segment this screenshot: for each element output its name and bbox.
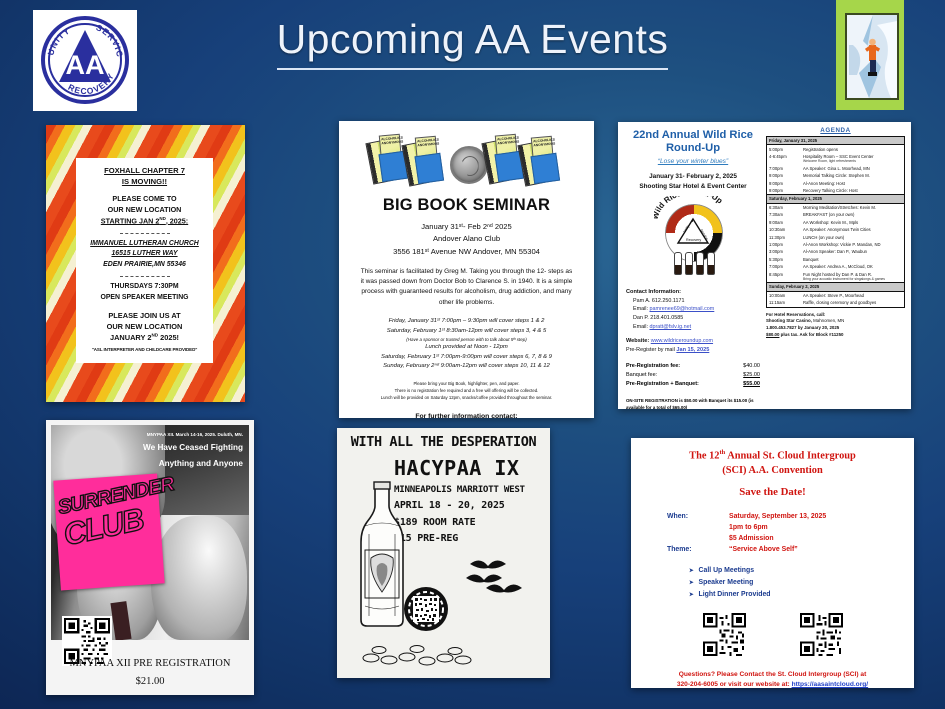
mnypaa-kicker: MNYPAA XII. March 14-16, 2025. Duluth, M… — [118, 432, 243, 438]
wildrice-hotel-phone: 1.800.453.7827 by January 20, 2025 — [766, 325, 905, 332]
foxhall-footnote: "ASL INTERPRETER AND CHILDCARE PROVIDED" — [82, 347, 207, 352]
agenda-subtext: Bring your acoustic instrument for singa… — [803, 277, 902, 281]
foxhall-body-line1: PLEASE COME TO — [82, 194, 207, 205]
agenda-time: 10:30am — [767, 226, 802, 233]
stcloud-title-line2: (SCI) A.A. Convention — [722, 465, 822, 476]
page-title: Upcoming AA Events — [0, 16, 945, 63]
agenda-text: Hospitality Room – SSC Event CenterWelco… — [801, 153, 905, 165]
agenda-row: 7:00pmAA Speaker: Andrea A., McCloud, OK — [767, 263, 905, 270]
agenda-row: 10:30amAA Speaker: Anonymous Twin Cities — [767, 226, 905, 233]
stcloud-save-the-date: Save the Date! — [645, 486, 900, 498]
foxhall-close-line3: JANUARY 2ND 2025! — [82, 332, 207, 343]
page-title-text: Upcoming AA Events — [277, 16, 669, 70]
wildrice-dates: January 31- February 2, 2025 — [626, 172, 760, 182]
agenda-text: Banquet — [801, 256, 905, 263]
big-book-illustration: ALCOHOLICS ANONYMOUS ALCOHOLICS ANONYMOU… — [353, 132, 580, 194]
wildrice-hotel-rate: $80.00 — [766, 332, 779, 337]
bullet-item: Light Dinner Provided — [689, 589, 900, 601]
agenda-text: BREAKFAST (on your own) — [801, 211, 905, 218]
bigbook-venue: Andover Alano Club — [353, 233, 580, 245]
wildrice-hotel-casino: Shooting Star Casino, — [766, 318, 812, 323]
agenda-day-header: Friday, January 31, 2025 — [767, 137, 905, 145]
fee-amount: $55.00 — [743, 380, 760, 389]
agenda-row: 11:30pmLUNCH (on your own) — [767, 234, 905, 241]
bigbook-schedule: Friday, January 31ˢᵗ 7:00pm – 9:30pm wil… — [353, 317, 580, 372]
agenda-time: 1:00pm — [767, 241, 802, 248]
agenda-time: 9:00pm — [767, 172, 802, 179]
detail-label — [667, 524, 729, 531]
wildrice-contact-block: Contact Information: Pam A. 612.250.1171… — [626, 288, 760, 355]
wildrice-hotel-block: plus tax. Ask for Block #11250 — [779, 332, 843, 337]
agenda-day-label: Saturday, February 1, 2025 — [767, 195, 905, 203]
schedule-line: Lunch provided at Noon - 12pm — [353, 343, 580, 353]
wildrice-onsite-note-1: ON-SITE REGISTRATION is $50.00 with Banq… — [626, 398, 760, 409]
agenda-text: Al-Anon Speaker: Dan P., Waubun — [801, 248, 905, 255]
agenda-time: 7:30am — [767, 211, 802, 218]
agenda-text: LUNCH (on your own) — [801, 234, 905, 241]
wildrice-agenda-heading: AGENDA — [766, 127, 905, 134]
agenda-time: 10:00am — [767, 291, 802, 299]
presentation-slide: AA UNITY SERVICE RECOVERY Upcoming AA Ev… — [0, 0, 945, 709]
agenda-time: 5:30pm — [767, 256, 802, 263]
wildrice-website-link[interactable]: www.wildriceroundup.com — [651, 338, 713, 344]
foxhall-close-line1: PLEASE JOIN US AT — [82, 310, 207, 321]
agenda-row: 9:00pmMemorial Talking Circle: Stephen M… — [767, 172, 905, 179]
wildrice-contact-name: Pam A. 612.250.1171 — [633, 297, 760, 306]
agenda-text: AA Speaker: Anonymous Twin Cities — [801, 226, 905, 233]
wildrice-contact-name: Dan P. 218.401.0585 — [633, 314, 760, 323]
wildrice-title-line2: Round-Up — [626, 142, 760, 155]
agenda-text: AA Speaker: Steve P., Moorhead — [801, 291, 905, 299]
schedule-line: Saturday, February 1ˢᵗ 7:00pm-9:00pm wil… — [353, 353, 580, 363]
fee-amount: $40.00 — [743, 362, 760, 371]
agenda-row: 9:00pmAl-Anon Meeting: Host — [767, 179, 905, 186]
foxhall-close-line2: OUR NEW LOCATION — [82, 321, 207, 332]
ice-climber-photo — [845, 13, 899, 100]
hacypaa-title: HACYPAA IX — [394, 458, 544, 478]
agenda-day-label: Sunday, February 2, 2025 — [767, 283, 905, 291]
agenda-row: 4-6:45pmHospitality Room – SSC Event Cen… — [767, 153, 905, 165]
agenda-text: Recovery Talking Circle: Host — [801, 187, 905, 195]
flyer-foxhall-chapter-7[interactable]: FOXHALL CHAPTER 7 IS MOVING!! PLEASE COM… — [46, 125, 245, 402]
flyer-hacypaa-ix[interactable]: WITH ALL THE DESPERATION HACYPAA IX MINN… — [337, 428, 550, 678]
foxhall-body-line2: OUR NEW LOCATION — [82, 205, 207, 216]
aa-medallion-icon — [450, 146, 488, 184]
agenda-text: Fun Night hosted by Dan P. & Dan R.Bring… — [801, 271, 905, 283]
hacypaa-qr-code[interactable] — [403, 586, 449, 632]
wildrice-contact-email[interactable]: pamrenee69@hotmail.com — [649, 306, 714, 312]
agenda-time: 4-6:45pm — [767, 153, 802, 165]
fee-label: Pre-Registration + Banquet: — [626, 380, 699, 389]
agenda-row: 7:30amBREAKFAST (on your own) — [767, 211, 905, 218]
foxhall-addr-line3: EDEN PRAIRIE,MN 55346 — [82, 260, 207, 270]
agenda-text: Registration opens — [801, 145, 905, 153]
wildrice-hotel-city: Mahnomen, MN — [812, 318, 844, 323]
stcloud-title: The 12th Annual St. Cloud Intergroup (SC… — [645, 448, 900, 479]
mnypaa-caption: MNYPAA XII PRE REGISTRATION — [46, 658, 254, 669]
foxhall-addr-line2: 16515 LUTHER WAY — [82, 249, 207, 259]
agenda-day-header: Sunday, February 2, 2025 — [767, 283, 905, 291]
note-line: Please bring your Big Book, highlighter,… — [361, 380, 572, 387]
agenda-day-label: Friday, January 31, 2025 — [767, 137, 905, 145]
flyer-mnypaa-xii[interactable]: SURRENDER CLUB MNYPAA XII. March 14-16, … — [46, 420, 254, 695]
fee-label: Banquet fee: — [626, 371, 657, 380]
wildrice-prereg-date: Jan 15, 2025 — [676, 347, 709, 353]
agenda-time: 6:30am — [767, 203, 802, 211]
flyer-st-cloud-intergroup[interactable]: The 12th Annual St. Cloud Intergroup (SC… — [631, 438, 914, 688]
detail-label: When: — [667, 513, 729, 520]
agenda-text: Memorial Talking Circle: Stephen M. — [801, 172, 905, 179]
mnypaa-headline-line1: We Have Ceased Fighting — [118, 443, 243, 454]
detail-label — [667, 535, 729, 542]
bullet-item: Speaker Meeting — [689, 577, 900, 589]
stcloud-footer-line2: 320-204-6005 or visit our website at: — [677, 681, 792, 688]
agenda-time: 5:00pm — [767, 145, 802, 153]
divider — [120, 233, 170, 234]
wildrice-hotel-heading: For Hotel Reservations, call: — [766, 312, 905, 319]
foxhall-body-line3: STARTING JAN 2ND, 2025: — [82, 216, 207, 227]
surrender-club-sticker: SURRENDER CLUB — [53, 474, 164, 591]
bigbook-description: This seminar is facilitated by Greg M. T… — [353, 267, 580, 308]
agenda-day-header: Saturday, February 1, 2025 — [767, 195, 905, 203]
agenda-row: 8:45pmFun Night hosted by Dan P. & Dan R… — [767, 271, 905, 283]
wildrice-agenda-table: Friday, January 31, 20255:00pmRegistrati… — [766, 136, 905, 308]
mnypaa-photo: SURRENDER CLUB MNYPAA XII. March 14-16, … — [51, 425, 249, 640]
agenda-text: AA Speaker: Gina L. Moorhead, MN — [801, 165, 905, 172]
agenda-time: 9:00pm — [767, 179, 802, 186]
flyer-wild-rice-round-up[interactable]: 22nd Annual Wild Rice Round-Up “Lose you… — [618, 122, 911, 409]
agenda-text: AA Workshop: Kevin M., Mpls — [801, 219, 905, 226]
wildrice-tagline: “Lose your winter blues” — [626, 158, 760, 165]
foxhall-meeting-line2: OPEN SPEAKER MEETING — [82, 293, 207, 304]
agenda-text: Raffle, closing ceremony and goodbyes — [801, 299, 905, 307]
wildrice-contact-email[interactable]: dpratt@fslv.ig.net — [649, 324, 691, 330]
stcloud-qr-code-2[interactable] — [800, 613, 843, 656]
agenda-text: AA Speaker: Andrea A., McCloud, OK — [801, 263, 905, 270]
stcloud-footer-line1: Questions? Please Contact the St. Cloud … — [645, 670, 900, 680]
fee-amount: $25.00 — [743, 371, 760, 380]
wildrice-medallion-icon: Wild Rice Round-Up Unity Service Recover… — [651, 196, 735, 274]
flyer-big-book-seminar[interactable]: ALCOHOLICS ANONYMOUS ALCOHOLICS ANONYMOU… — [339, 121, 594, 418]
wildrice-venue: Shooting Star Hotel & Event Center — [626, 182, 760, 192]
divider — [120, 276, 170, 277]
stcloud-details: When:Saturday, September 13, 2025 1pm to… — [667, 513, 900, 553]
wildrice-title-line1: 22nd Annual Wild Rice — [626, 129, 760, 142]
bigbook-date: January 31ˢᵗ- Feb 2ⁿᵈ 2025 — [353, 221, 580, 233]
mnypaa-headline-line2: Anything and Anyone — [118, 459, 243, 470]
schedule-line: Saturday, February 1ˢᵗ 8:30am-12pm will … — [353, 327, 580, 337]
foxhall-title-line2: IS MOVING!! — [82, 176, 207, 187]
agenda-row: 9:00amAA Workshop: Kevin M., Mpls — [767, 219, 905, 226]
agenda-row: 5:00pmRegistration opens — [767, 145, 905, 153]
stcloud-qr-code-1[interactable] — [703, 613, 746, 656]
hacypaa-room-rate: $189 ROOM RATE — [394, 516, 544, 530]
agenda-subtext: Welcome Room, light refreshments — [803, 159, 902, 163]
agenda-time: 9:00am — [767, 219, 802, 226]
svg-text:Recovery: Recovery — [686, 238, 701, 242]
hacypaa-prereg: $15 PRE-REG — [394, 532, 544, 546]
agenda-time: 8:45pm — [767, 271, 802, 283]
agenda-time: 11:15am — [767, 299, 802, 307]
detail-label: Theme: — [667, 546, 729, 553]
wildrice-contact-heading: Contact Information: — [626, 289, 681, 295]
bullet-item: Call Up Meetings — [689, 565, 900, 577]
detail-value: $5 Admission — [729, 535, 774, 542]
hacypaa-line1: WITH ALL THE DESPERATION — [343, 436, 544, 450]
bigbook-contact-heading: For further information contact: — [353, 412, 580, 418]
agenda-row: 7:00pmAA Speaker: Gina L. Moorhead, MN — [767, 165, 905, 172]
agenda-time: 7:00pm — [767, 165, 802, 172]
detail-value: Saturday, September 13, 2025 — [729, 513, 826, 520]
detail-value: 1pm to 6pm — [729, 524, 768, 531]
schedule-line: Friday, January 31ˢᵗ 7:00pm – 9:30pm wil… — [353, 317, 580, 327]
agenda-row: 9:00pmRecovery Talking Circle: Host — [767, 187, 905, 195]
agenda-text: Morning Meditation/Stretches: Kevin M. — [801, 203, 905, 211]
stcloud-website-link[interactable]: https://aasaintcloud.org/ — [792, 681, 869, 688]
agenda-row: 1:00pmAl-Anon Workshop: Vickie P. Mandan… — [767, 241, 905, 248]
agenda-text: Al-Anon Workshop: Vickie P. Mandan, ND — [801, 241, 905, 248]
agenda-row: 10:00amAA Speaker: Steve P., Moorhead — [767, 291, 905, 299]
agenda-row: 6:30amMorning Meditation/Stretches: Kevi… — [767, 203, 905, 211]
foxhall-paper: FOXHALL CHAPTER 7 IS MOVING!! PLEASE COM… — [76, 158, 213, 363]
agenda-time: 3:00pm — [767, 248, 802, 255]
schedule-line: (Have a sponsor or trusted person with t… — [353, 336, 580, 343]
agenda-row: 5:30pmBanquet — [767, 256, 905, 263]
wildrice-fees: Pre-Registration fee:$40.00 Banquet fee:… — [626, 362, 760, 390]
agenda-row: 3:00pmAl-Anon Speaker: Dan P., Waubun — [767, 248, 905, 255]
hacypaa-venue: MINNEAPOLIS MARRIOTT WEST — [394, 484, 544, 496]
fee-label: Pre-Registration fee: — [626, 362, 680, 371]
bigbook-notes: Please bring your Big Book, highlighter,… — [353, 380, 580, 401]
foxhall-addr-line1: IMMANUEL LUTHERAN CHURCH — [82, 239, 207, 249]
agenda-text: Al-Anon Meeting: Host — [801, 179, 905, 186]
agenda-time: 11:30pm — [767, 234, 802, 241]
bigbook-title: BIG BOOK SEMINAR — [353, 196, 580, 215]
wildrice-prereg-note: Pre-Register by mail — [626, 347, 675, 353]
hacypaa-dates: APRIL 18 - 20, 2025 — [394, 499, 544, 513]
climber-photo-frame — [836, 0, 904, 110]
birds-illustration — [464, 554, 538, 594]
note-line: Lunch will be provided on Saturday 12pm,… — [361, 394, 572, 401]
note-line: There is no registration fee required an… — [361, 387, 572, 394]
schedule-line: Sunday, February 2ⁿᵈ 9:00am-12pm will co… — [353, 362, 580, 372]
stcloud-bullets: Call Up Meetings Speaker Meeting Light D… — [689, 565, 900, 601]
coins-illustration — [357, 640, 487, 666]
mnypaa-price: $21.00 — [46, 676, 254, 687]
agenda-time: 9:00pm — [767, 187, 802, 195]
agenda-time: 7:00pm — [767, 263, 802, 270]
foxhall-meeting-line1: THURSDAYS 7:30PM — [82, 282, 207, 293]
wildrice-website-label: Website: — [626, 338, 649, 344]
agenda-row: 11:15amRaffle, closing ceremony and good… — [767, 299, 905, 307]
foxhall-title-line1: FOXHALL CHAPTER 7 — [82, 165, 207, 176]
bigbook-address: 3556 181ˢᵗ Avenue NW Andover, MN 55304 — [353, 246, 580, 258]
detail-value: “Service Above Self” — [729, 546, 798, 553]
